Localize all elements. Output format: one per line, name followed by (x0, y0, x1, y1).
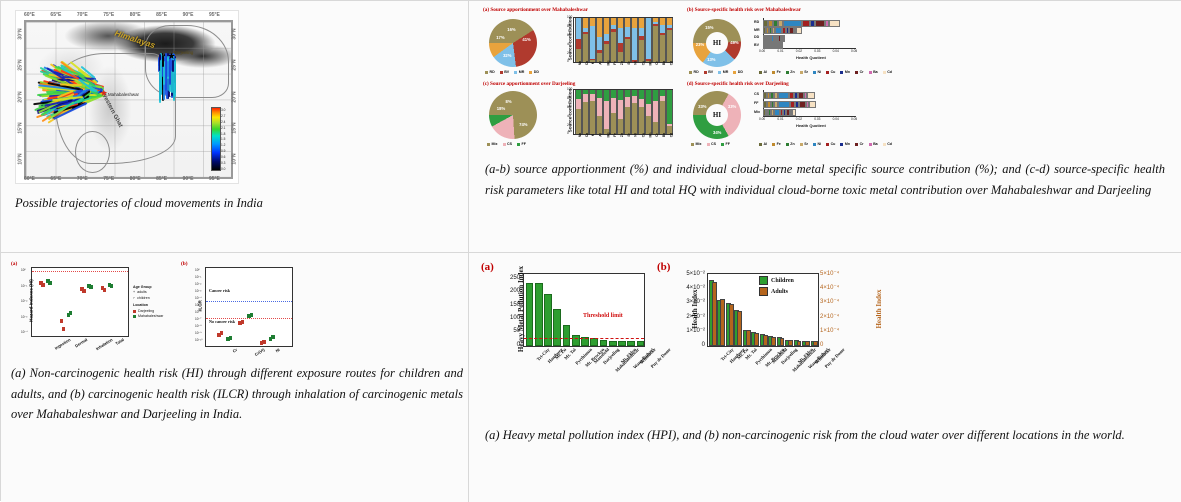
legend-label: Al (764, 142, 768, 146)
metal-tick-label: Zn (620, 61, 624, 65)
ilcr-data-point (271, 335, 275, 339)
hi-world-bar (746, 330, 751, 346)
hi-world-bar (788, 340, 793, 346)
hq-segment (783, 35, 785, 42)
stack-segment (652, 26, 658, 62)
map-figure: Himalayas Western Ghat ★ ★ Mahabaleshwar… (15, 10, 239, 184)
hpi-bar (609, 341, 617, 346)
hq-segment (802, 20, 810, 27)
stack-segment (589, 26, 595, 59)
legend-metals-darjeeling: AlFeZnSrNiCuMnCrBaCd (759, 142, 894, 146)
stack-segment (666, 90, 672, 124)
legend-swatch (487, 143, 490, 146)
legend-label: FF (522, 142, 526, 146)
legend-label: Sr (804, 70, 808, 74)
hq-row-label: MR (754, 28, 760, 32)
ilcr-x-tick: Cr(VI) (254, 347, 266, 357)
hpi-bar (618, 341, 626, 346)
legend-item: Cd (883, 70, 892, 74)
stacked-bar (645, 90, 649, 134)
hpi-panel-b-tag: (b) (657, 261, 670, 273)
ilcr-data-point (241, 320, 245, 324)
hq-tick-label: 0.00 (759, 117, 765, 121)
map-lon-tick: 65°E (50, 176, 61, 182)
legend-label: Ba (873, 70, 878, 74)
stack-segment (582, 18, 588, 28)
stacked-bar (610, 90, 614, 134)
hq-segment (796, 27, 801, 34)
legend-swatch (786, 71, 789, 74)
legend-label: Adults (771, 289, 788, 295)
hi-data-point (62, 327, 66, 331)
legend-label: Fe (777, 142, 781, 146)
hi-data-point (69, 311, 73, 315)
legend-item: Mn (840, 142, 850, 146)
stacked-bar (596, 90, 600, 134)
stacked-bar (638, 90, 642, 134)
hi-x-tick: Inhalation (95, 337, 114, 351)
ilcr-y-tick: 10⁻⁸ (195, 324, 202, 328)
hi-y-tick: 10⁻¹ (21, 284, 27, 288)
legend-swatch (514, 71, 517, 74)
metal-tick-label: Fe (613, 61, 617, 65)
stack-segment (589, 18, 595, 25)
hi-world-legend: ChildrenAdults (759, 276, 794, 296)
legend-label: CS (711, 142, 716, 146)
legend-swatch (704, 71, 707, 74)
map-lon-tick: 70°E (77, 176, 88, 182)
legend-swatch (759, 71, 762, 74)
map-lat-tick: 10°N (232, 153, 238, 164)
metal-tick-label: Fe (613, 133, 617, 137)
hq-bar (763, 20, 840, 25)
hi-y-tick: 10⁰ (21, 268, 26, 272)
legend-location-swatch (133, 310, 136, 313)
stack-segment (603, 90, 609, 101)
legend-item: Ni (813, 142, 821, 146)
metal-tick-label: Ni (634, 133, 638, 136)
legend-item: Al (759, 142, 767, 146)
legend-item: CS (503, 142, 513, 146)
hq-row-label: FF (754, 101, 758, 105)
stack-segment (596, 90, 602, 98)
map-plot-area: Himalayas Western Ghat ★ ★ Mahabaleshwar… (24, 20, 233, 179)
metal-tick-label: Mn (649, 61, 653, 66)
hq-tick-label: 0.01 (777, 49, 783, 53)
stacked-bar (645, 18, 649, 62)
stacked-bar (610, 18, 614, 62)
hi-world-bar (771, 337, 776, 346)
legend-swatch (689, 71, 692, 74)
slice-percent-label: 33% (728, 104, 736, 109)
hi-world-bar (813, 341, 818, 346)
site-label-darjeeling: Darjeeling (174, 50, 194, 55)
hq-bar (763, 42, 783, 47)
legend-location-label: Mahabaleshwar (138, 314, 163, 319)
legend-mahabaleshwar-hi: RDBVMRDD (689, 70, 745, 74)
legend-label: Mn (845, 142, 850, 146)
health-risk-panel: (a)10⁰10⁻¹10⁻²10⁻³10⁻⁴Hazard Indexes (HI… (1, 253, 469, 502)
hi-data-point (82, 289, 86, 293)
hi-data-point (48, 281, 52, 285)
ilcr-data-point (262, 340, 266, 344)
legend-item: Fe (772, 142, 781, 146)
legend-swatch (883, 143, 886, 146)
panel-b-tag: (b) (181, 261, 188, 267)
legend-item: Ba (869, 70, 878, 74)
stacked-bar (589, 18, 593, 62)
stack-segment (617, 100, 623, 118)
legend-item: Adults (759, 287, 794, 296)
ilcr-data-point (229, 336, 233, 340)
stacked-bar (666, 90, 670, 134)
legend-item: Zn (786, 70, 795, 74)
metal-tick-label: Ca (585, 133, 589, 137)
legend-label: RD (694, 70, 699, 74)
legend-item: BV (500, 70, 510, 74)
legend-label: Ba (873, 142, 878, 146)
legend-item: Mix (487, 142, 498, 146)
hpi-figure: (a)Tri-CityHamburgMt. LuMt. TaiPyrthimun… (479, 259, 839, 371)
map-lon-tick: 70°E (77, 12, 88, 18)
legend-item: Cu (826, 142, 835, 146)
stack-segment (575, 18, 581, 39)
metal-tick-label: Ca (585, 61, 589, 65)
legend-location-swatch (133, 315, 136, 318)
hi-world-bar (780, 338, 785, 346)
metal-tick-label: Sr (627, 133, 631, 137)
stack-segment (631, 18, 637, 28)
hpi-panel: (a)Tri-CityHamburgMt. LuMt. TaiPyrthimun… (469, 253, 1181, 502)
hi-threshold-line (32, 271, 128, 272)
legend-item: MR (718, 70, 728, 74)
slice-percent-label: 23% (696, 42, 704, 47)
hq-tick-label: 0.05 (851, 117, 857, 121)
hi-y-axis-title: Hazard Indexes (HI) (29, 271, 34, 331)
legend-label: BV (504, 70, 509, 74)
metal-tick-label: Mg (607, 133, 611, 138)
stack-segment (624, 90, 630, 97)
colorbar-tick: 2.1 (221, 127, 230, 130)
legend-item: Cr (855, 70, 864, 74)
colorbar-tick: 0.3 (221, 162, 230, 165)
slice-percent-label: 17% (496, 35, 504, 40)
hpi-plot-area (523, 273, 645, 347)
stacked-bar (631, 90, 635, 134)
legend-item: Ba (869, 142, 878, 146)
hpi-bar (553, 309, 561, 346)
map-lat-tick: 10°N (18, 153, 24, 164)
hi-data-point (103, 288, 107, 292)
legend-label: Cr (860, 70, 864, 74)
legend-item: Cu (826, 70, 835, 74)
legend-swatch (813, 71, 816, 74)
stack-segment (596, 18, 602, 36)
stack-segment (596, 37, 602, 50)
hq-row-label: DD (754, 35, 759, 39)
stack-segment (610, 90, 616, 98)
stack-segment (645, 18, 651, 59)
stack-segment (659, 25, 665, 33)
site-marker-mahabaleshwar: ★ (100, 90, 107, 97)
map-lon-tick: 90°E (183, 12, 194, 18)
ilcr-data-point (220, 331, 224, 335)
legend-swatch (529, 71, 532, 74)
ilcr-cancer-annotation: Cancer risk (209, 288, 230, 293)
legend-label: Zn (790, 70, 794, 74)
legend-item: RD (485, 70, 495, 74)
slice-percent-label: 32% (503, 53, 511, 58)
legend-swatch (503, 143, 506, 146)
stack-segment (638, 18, 644, 28)
legend-item: DD (733, 70, 743, 74)
metal-tick-label: Mg (607, 61, 611, 66)
legend-label: MR (519, 70, 525, 74)
hi-world-bar (729, 304, 734, 346)
stack-segment (603, 44, 609, 62)
stack-segment (617, 119, 623, 134)
stacked-bar (582, 90, 586, 134)
hq-tick-label: 0.01 (777, 117, 783, 121)
colorbar-tick: 0.6 (221, 156, 230, 159)
stack-segment (617, 18, 623, 28)
metal-tick-label: Ni (634, 61, 638, 64)
stacked-bar (582, 18, 586, 62)
hq-segment (815, 20, 825, 27)
stacked-bar (603, 90, 607, 134)
legend-swatch (485, 71, 488, 74)
health-legend: Age Group+adults⌐childrenLocationDarjeel… (133, 285, 163, 319)
hi-world-bar (737, 311, 742, 346)
legend-swatch (855, 143, 858, 146)
metal-tick-label: K (591, 134, 595, 136)
legend-item: Children (759, 276, 794, 285)
colorbar-tick: 2.7 (221, 115, 230, 118)
legend-swatch (883, 71, 886, 74)
colorbar-tick: 1.2 (221, 144, 230, 147)
hpi-y-axis-title: Heavy Metal Pollution Index (517, 249, 525, 369)
hpi-bar (572, 335, 580, 346)
legend-label: Cu (831, 142, 836, 146)
slice-percent-label: 16% (507, 27, 515, 32)
hpi-panel-a-tag: (a) (481, 261, 494, 273)
legend-label: BV (708, 70, 713, 74)
hi-world-bar (720, 299, 725, 346)
legend-label: Fe (777, 70, 781, 74)
metal-tick-label: Cu (641, 133, 645, 138)
hq-tick-label: 0.04 (833, 49, 839, 53)
stack-segment (638, 99, 644, 107)
legend-item: FF (517, 142, 526, 146)
map-lon-tick: 95°E (209, 176, 220, 182)
legend-label: Cd (887, 70, 892, 74)
hq-bar (763, 35, 785, 40)
stack-segment (652, 101, 658, 122)
ilcr-y-tick: 10⁻¹ (195, 275, 201, 279)
metal-tick-label: Na (578, 61, 582, 65)
stacked-bar (617, 90, 621, 134)
hi-y-tick: 10⁻⁴ (21, 330, 28, 334)
map-lat-tick: 15°N (232, 122, 238, 133)
legend-swatch (772, 71, 775, 74)
metal-tick-label: Al (599, 133, 603, 136)
ilcr-x-tick: Ni (274, 347, 280, 353)
hpi-bar (637, 341, 645, 346)
hpi-threshold-line (524, 338, 644, 339)
stacked-bar (603, 18, 607, 62)
metal-tick-label: Cu (641, 61, 645, 66)
health-panel-caption: (a) Non-carcinogenic health risk (HI) th… (11, 363, 463, 425)
legend-swatch (517, 143, 520, 146)
y-axis-title: Source contribution (568, 14, 573, 64)
legend-label: MR (723, 70, 729, 74)
ilcr-cancer-line (206, 301, 292, 302)
coastline-outline (75, 131, 110, 173)
stack-segment (666, 30, 672, 62)
hi-world-y-tick-right: 3×10⁻⁴ (820, 298, 839, 305)
stack-segment (638, 28, 644, 37)
slice-percent-label: 41% (522, 37, 530, 42)
stack-segment (631, 96, 637, 103)
stack-segment (617, 28, 623, 43)
hi-y-tick: 10⁻² (21, 299, 27, 303)
stack-segment (659, 18, 665, 25)
colorbar-tick: 0.9 (221, 150, 230, 153)
stack-segment (659, 35, 665, 62)
hi-world-y-axis-title-right: Health Index (875, 269, 883, 349)
stacked-bar (617, 18, 621, 62)
hq-tick-label: 0.02 (796, 117, 802, 121)
legend-swatch (691, 143, 694, 146)
stack-segment (666, 18, 672, 25)
legend-swatch (826, 71, 829, 74)
map-lon-tick: 65°E (50, 12, 61, 18)
figure-grid: Himalayas Western Ghat ★ ★ Mahabaleshwar… (0, 0, 1181, 501)
stack-segment (624, 107, 630, 134)
metal-tick-label: Al (599, 61, 603, 64)
map-lat-tick: 15°N (18, 122, 24, 133)
legend-mahabaleshwar-sources: RDBVMRDD (485, 70, 541, 74)
stack-segment (624, 18, 630, 27)
slice-percent-label: 8% (506, 99, 512, 104)
legend-swatch (759, 143, 762, 146)
map-lon-tick: 60°E (24, 176, 35, 182)
hi-world-bar (754, 333, 759, 346)
hq-bar (763, 27, 802, 32)
hq-segment (778, 92, 789, 99)
hq-axis-title: Health Quotient (796, 55, 826, 60)
stacked-bars-mahabaleshwar (573, 17, 673, 63)
ilcr-y-tick: 10⁻¹⁰ (195, 338, 203, 342)
stack-segment (617, 90, 623, 100)
ilcr-y-axis-title: ILCR (198, 289, 203, 323)
legend-label: Al (764, 70, 768, 74)
stack-segment (645, 90, 651, 104)
hi-world-bar (763, 335, 768, 346)
hi-world-bar (797, 341, 802, 346)
map-lat-tick: 25°N (232, 60, 238, 71)
legend-age-item: ⌐children (133, 296, 163, 301)
health-risk-figure: (a)10⁰10⁻¹10⁻²10⁻³10⁻⁴Hazard Indexes (HI… (9, 259, 299, 359)
hi-world-y-tick-right: 5×10⁻⁴ (820, 270, 839, 277)
slice-percent-label: 13% (707, 57, 715, 62)
legend-swatch (840, 71, 843, 74)
legend-item: Mn (840, 70, 850, 74)
hi-world-y-axis-title: Health Index (691, 269, 699, 349)
legend-swatch (855, 71, 858, 74)
hi-donut-center: HI (706, 32, 728, 54)
legend-label: Cd (887, 142, 892, 146)
ilcr-y-tick: 10⁻⁹ (195, 331, 202, 335)
stacked-bar (631, 18, 635, 62)
source-apportionment-figure: (a) Source apportionment over Mahabalesh… (481, 7, 871, 155)
hi-data-point (110, 284, 114, 288)
map-caption: Possible trajectories of cloud movements… (15, 193, 345, 214)
map-lat-tick: 25°N (18, 60, 24, 71)
legend-item: CS (707, 142, 717, 146)
stack-segment (603, 18, 609, 34)
legend-item: Fe (772, 70, 781, 74)
stack-segment (624, 27, 630, 37)
legend-item: Zn (786, 142, 795, 146)
metal-tick-label: Ba (662, 133, 666, 137)
legend-swatch (759, 276, 768, 285)
map-lon-tick: 95°E (209, 12, 220, 18)
legend-label: Mix (492, 142, 498, 146)
stack-segment (582, 94, 588, 101)
legend-swatch (800, 143, 803, 146)
legend-swatch (718, 71, 721, 74)
legend-age-marker: ⌐ (133, 296, 135, 301)
metal-tick-label: Cd (669, 61, 673, 66)
hi-plot-area (31, 267, 129, 337)
panel-a-tag: (a) (11, 261, 17, 267)
metal-tick-label: Sr (627, 61, 631, 65)
stack-segment (603, 34, 609, 41)
stacked-bar (575, 18, 579, 62)
stack-segment (596, 116, 602, 134)
legend-swatch (759, 287, 768, 296)
colorbar-tick-labels: 0.00.30.60.91.21.51.82.12.42.73.0 (221, 109, 230, 171)
legend-label: DD (738, 70, 743, 74)
stack-segment (659, 101, 665, 134)
legend-swatch (869, 143, 872, 146)
legend-item: Mix (691, 142, 702, 146)
legend-item: BV (704, 70, 714, 74)
stack-segment (575, 39, 581, 49)
legend-label: Ni (817, 142, 821, 146)
legend-label: Mix (696, 142, 702, 146)
hq-bar (763, 101, 816, 106)
stack-segment (645, 104, 651, 116)
stack-segment (582, 102, 588, 134)
legend-swatch (840, 143, 843, 146)
metal-tick-label: Cr (655, 133, 659, 137)
legend-swatch (500, 71, 503, 74)
panel-b-title: (b) Source-specific health risk over Mah… (687, 7, 801, 13)
metal-tick-label: Na (578, 133, 582, 137)
site-label-mahabaleshwar: Mahabaleshwar (108, 92, 139, 97)
map-lat-tick: 20°N (18, 91, 24, 102)
stacked-bar (596, 18, 600, 62)
pie-darjeeling-sources (489, 91, 537, 139)
slice-percent-label: 33% (698, 104, 706, 109)
hpi-bar (590, 338, 598, 346)
stack-segment (596, 98, 602, 116)
stacked-bar (659, 18, 663, 62)
legend-location-item: Mahabaleshwar (133, 314, 163, 319)
stacked-bar (652, 90, 656, 134)
